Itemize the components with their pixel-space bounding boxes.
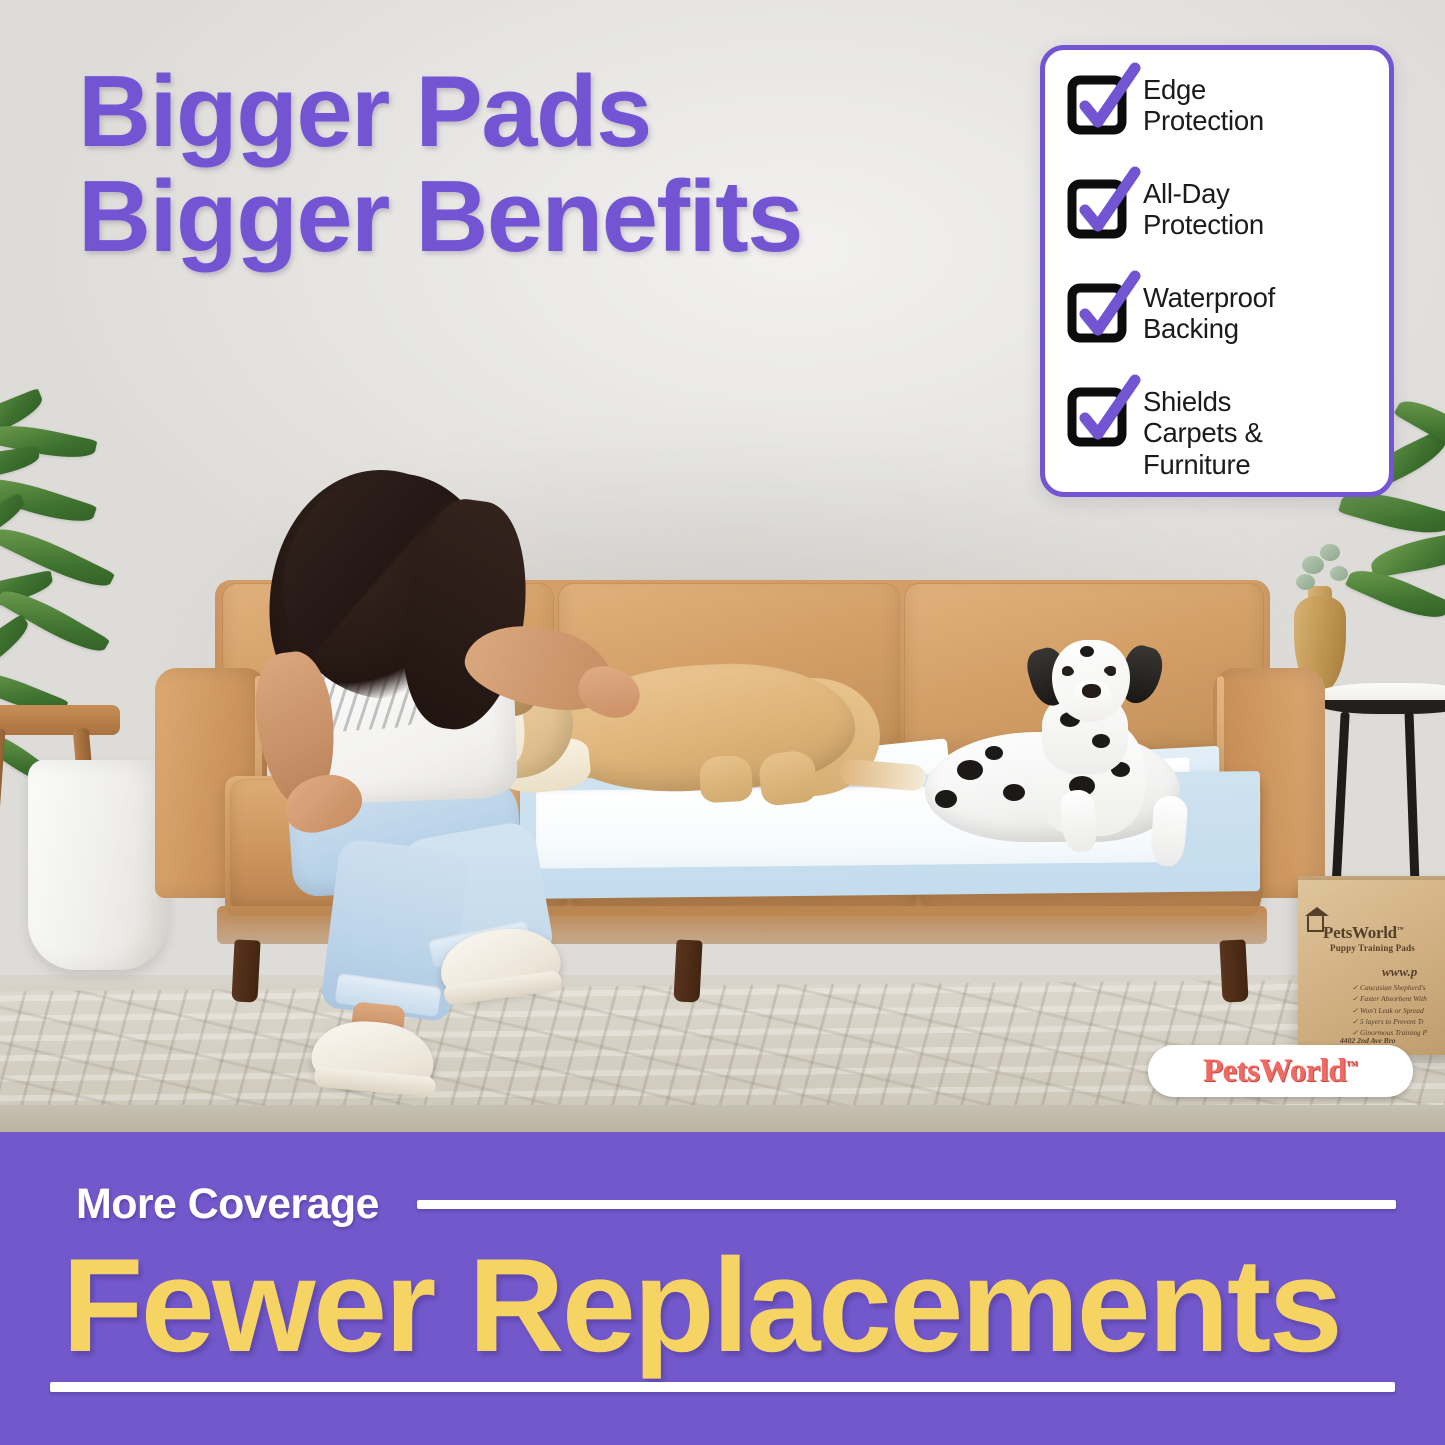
box-bullet: ✓ Caucasian Shepherd's: [1352, 982, 1427, 993]
eucalyptus-leaf: [1330, 566, 1348, 581]
logo-wordmark: PetsWorld™: [1203, 1053, 1358, 1090]
banner-divider-bottom: [50, 1382, 1395, 1392]
sofa-leg: [673, 939, 702, 1002]
checklist-label: WaterproofBacking: [1143, 280, 1275, 345]
eucalyptus-leaf: [1320, 544, 1340, 561]
box-brand-name: PetsWorld™: [1323, 924, 1404, 943]
checkbox-checked-icon: [1067, 388, 1125, 442]
petsworld-logo: PetsWorld™: [1148, 1045, 1413, 1097]
doghouse-icon: [1307, 916, 1324, 932]
product-image-canvas: PetsWorld™ Puppy Training Pads www.p ✓ C…: [0, 0, 1445, 1445]
sofa-leg: [231, 939, 260, 1002]
side-stool-top-left: [0, 705, 120, 735]
checklist-label: EdgeProtection: [1143, 72, 1264, 137]
banner-divider-top: [417, 1200, 1396, 1209]
headline-line-2: Bigger Benefits: [78, 165, 938, 270]
box-bullet-list: ✓ Caucasian Shepherd's ✓ Faster Absorben…: [1352, 982, 1427, 1038]
checklist-item-all-day-protection: All-DayProtection: [1067, 176, 1373, 241]
checklist-item-shields-carpets-furniture: ShieldsCarpets &Furniture: [1067, 384, 1373, 480]
checklist-item-edge-protection: EdgeProtection: [1067, 72, 1373, 137]
checklist-item-waterproof-backing: WaterproofBacking: [1067, 280, 1373, 345]
checkbox-checked-icon: [1067, 180, 1125, 234]
checklist-label: All-DayProtection: [1143, 176, 1264, 241]
box-bullet: ✓ 5 layers to Prevent Tr: [1352, 1016, 1427, 1027]
eucalyptus-leaf: [1302, 556, 1324, 574]
banner-headline: Fewer Replacements: [62, 1240, 1392, 1373]
box-subtitle: Puppy Training Pads: [1330, 944, 1415, 954]
box-bullet: ✓ Won't Leak or Spread: [1352, 1005, 1427, 1016]
bulldog-leg: [757, 749, 818, 807]
sofa-leg: [1219, 939, 1248, 1002]
checkbox-checked-icon: [1067, 76, 1125, 130]
plant-pot-left: [28, 760, 168, 970]
bulldog-leg: [699, 755, 753, 804]
headline-line-1: Bigger Pads: [78, 60, 938, 165]
banner-eyebrow-row: More Coverage: [76, 1180, 1396, 1229]
banner-eyebrow: More Coverage: [76, 1180, 379, 1229]
page-title: Bigger Pads Bigger Benefits: [78, 60, 938, 270]
benefits-checklist-card: EdgeProtection All-DayProtection Waterpr…: [1040, 45, 1394, 497]
box-bullet: ✓ Faster Absorbent With: [1352, 993, 1427, 1004]
box-website: www.p: [1382, 965, 1417, 979]
checklist-label: ShieldsCarpets &Furniture: [1143, 384, 1263, 480]
dalmatian-nose: [1082, 684, 1101, 698]
checkbox-checked-icon: [1067, 284, 1125, 338]
bottom-banner: More Coverage Fewer Replacements: [0, 1132, 1445, 1445]
box-trademark: ™: [1397, 925, 1404, 933]
rug-edge: [0, 1105, 1445, 1132]
logo-trademark: ™: [1346, 1058, 1358, 1072]
